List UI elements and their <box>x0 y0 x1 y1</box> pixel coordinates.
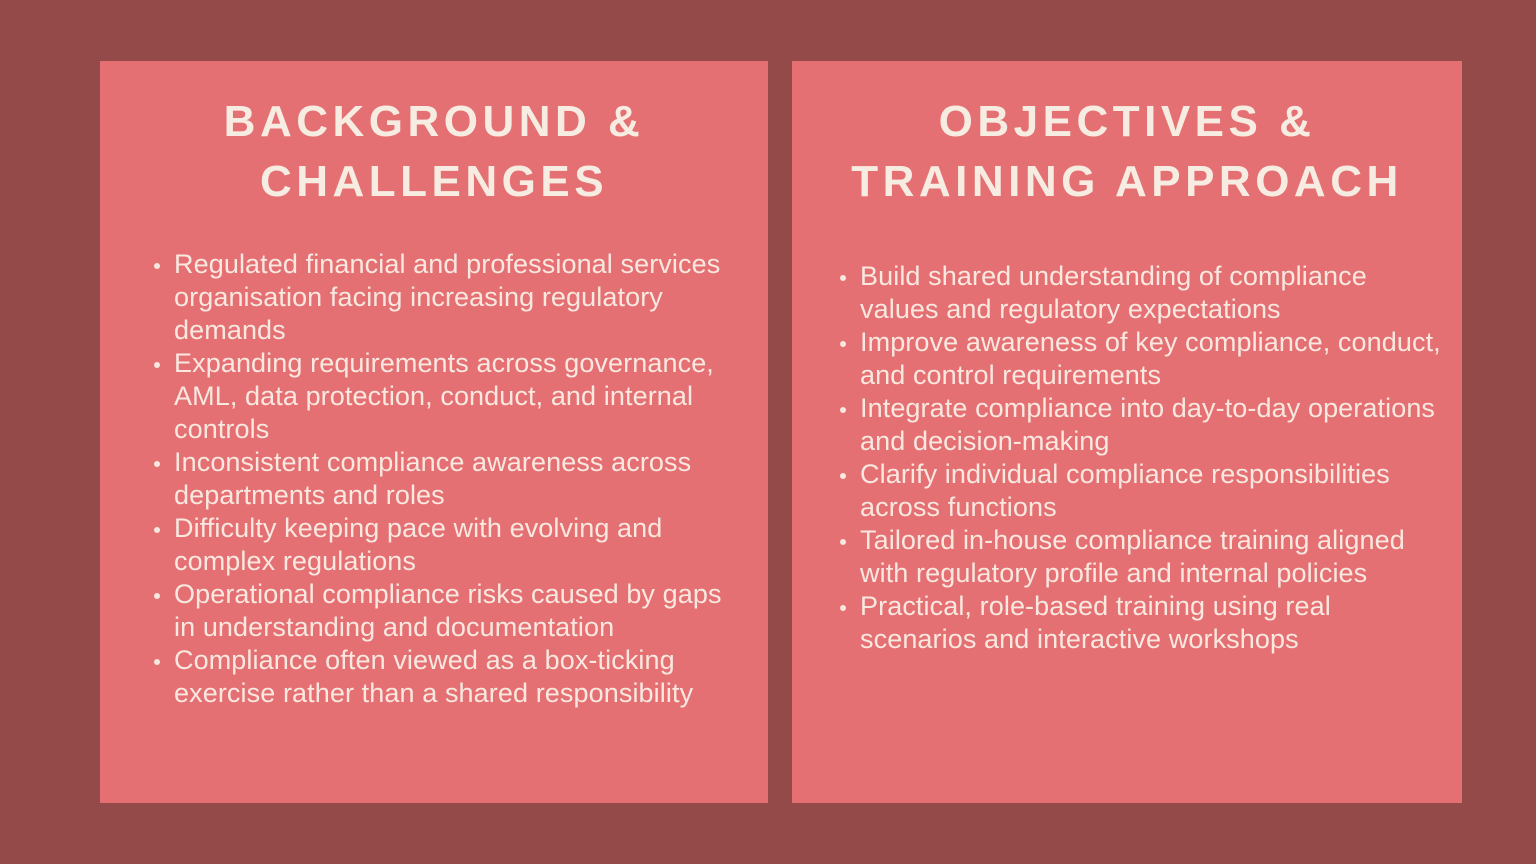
panel-left-bullet-list: Regulated financial and professional ser… <box>152 248 750 710</box>
list-item: Inconsistent compliance awareness across… <box>152 446 750 512</box>
list-item: Expanding requirements across governance… <box>152 347 750 446</box>
panel-objectives-training-approach: OBJECTIVES & TRAINING APPROACH Build sha… <box>792 61 1462 803</box>
list-item: Improve awareness of key compliance, con… <box>838 326 1448 392</box>
list-item: Tailored in-house compliance training al… <box>838 524 1448 590</box>
list-item: Practical, role-based training using rea… <box>838 590 1448 656</box>
panel-left-title: BACKGROUND & CHALLENGES <box>100 61 768 212</box>
list-item: Compliance often viewed as a box-ticking… <box>152 644 750 710</box>
panel-background-challenges: BACKGROUND & CHALLENGES Regulated financ… <box>100 61 768 803</box>
list-item: Build shared understanding of compliance… <box>838 260 1448 326</box>
list-item: Difficulty keeping pace with evolving an… <box>152 512 750 578</box>
panel-right-bullet-list: Build shared understanding of compliance… <box>838 260 1448 656</box>
list-item: Operational compliance risks caused by g… <box>152 578 750 644</box>
panel-right-title: OBJECTIVES & TRAINING APPROACH <box>792 61 1462 212</box>
slide-canvas: BACKGROUND & CHALLENGES Regulated financ… <box>0 0 1536 864</box>
list-item: Regulated financial and professional ser… <box>152 248 750 347</box>
list-item: Integrate compliance into day-to-day ope… <box>838 392 1448 458</box>
list-item: Clarify individual compliance responsibi… <box>838 458 1448 524</box>
